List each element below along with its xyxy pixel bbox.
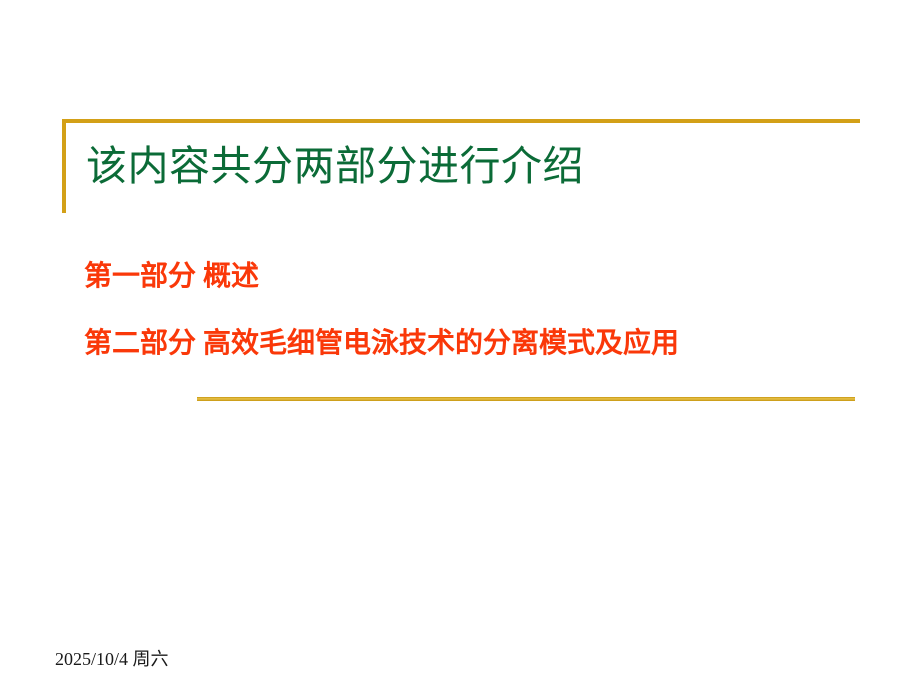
slide-body-list: 第一部分 概述 第二部分 高效毛细管电泳技术的分离模式及应用 [84, 262, 874, 360]
page-title: 该内容共分两部分进行介绍 [86, 143, 846, 190]
footer-date: 2025/10/4 周六 [55, 645, 169, 671]
list-item: 第一部分 概述 [84, 262, 874, 293]
presentation-slide: 该内容共分两部分进行介绍 第一部分 概述 第二部分 高效毛细管电泳技术的分离模式… [0, 0, 920, 690]
list-item: 第二部分 高效毛细管电泳技术的分离模式及应用 [84, 329, 874, 360]
decorative-top-rule [62, 119, 860, 123]
decorative-left-rule [62, 119, 66, 213]
decorative-bottom-rule [197, 397, 855, 401]
